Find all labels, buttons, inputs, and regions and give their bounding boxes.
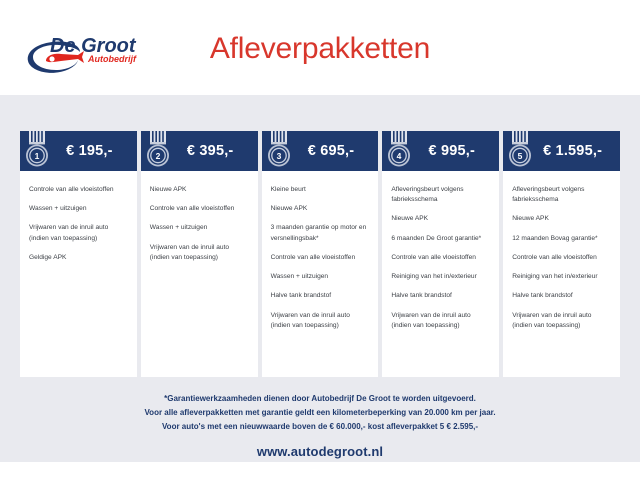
package-feature: 12 maanden Bovag garantie* [512, 234, 611, 244]
package-card-5[interactable]: 5€ 1.595,-Afleveringsbeurt volgens fabri… [503, 131, 620, 377]
package-feature: Controle van alle vloeistoffen [29, 185, 128, 195]
package-card-3[interactable]: 3€ 695,-Kleine beurtNieuwe APK3 maanden … [262, 131, 379, 377]
package-price: € 1.595,- [533, 143, 614, 159]
package-feature: Controle van alle vloeistoffen [150, 204, 249, 214]
package-feature: Wassen + uitzuigen [271, 272, 370, 282]
package-card-4[interactable]: 4€ 995,-Afleveringsbeurt volgens fabriek… [382, 131, 499, 377]
svg-text:4: 4 [397, 151, 402, 161]
package-feature: Nieuwe APK [271, 204, 370, 214]
package-feature: Halve tank brandstof [391, 291, 490, 301]
package-feature: Vrijwaren van de inruil auto (indien van… [512, 311, 611, 331]
medal-icon: 3 [266, 131, 292, 169]
package-price: € 395,- [171, 143, 252, 159]
medal-icon: 5 [507, 131, 533, 169]
page-title: Afleverpakketten [0, 32, 640, 66]
content-band: 1€ 195,-Controle van alle vloeistoffenWa… [0, 95, 640, 462]
package-feature: Wassen + uitzuigen [150, 223, 249, 233]
svg-text:2: 2 [155, 151, 160, 161]
package-feature: Vrijwaren van de inruil auto (indien van… [29, 223, 128, 243]
package-feature: Kleine beurt [271, 185, 370, 195]
package-price: € 995,- [412, 143, 493, 159]
page-header: De Groot Autobedrijf Afleverpakketten [0, 0, 640, 95]
medal-icon: 2 [145, 131, 171, 169]
package-feature: Reiniging van het in/exterieur [391, 272, 490, 282]
package-feature-list: Kleine beurtNieuwe APK3 maanden garantie… [262, 171, 379, 377]
package-card-header: 4€ 995,- [382, 131, 499, 171]
package-feature-list: Afleveringsbeurt volgens fabrieksschemaN… [503, 171, 620, 377]
package-feature: Halve tank brandstof [271, 291, 370, 301]
package-feature: Afleveringsbeurt volgens fabrieksschema [512, 185, 611, 205]
package-feature-list: Afleveringsbeurt volgens fabrieksschemaN… [382, 171, 499, 377]
package-feature: Controle van alle vloeistoffen [512, 253, 611, 263]
package-feature: Nieuwe APK [391, 214, 490, 224]
package-feature: Vrijwaren van de inruil auto (indien van… [271, 311, 370, 331]
package-feature: Controle van alle vloeistoffen [391, 253, 490, 263]
package-feature: Nieuwe APK [150, 185, 249, 195]
svg-text:5: 5 [518, 151, 523, 161]
website-url[interactable]: www.autodegroot.nl [0, 444, 640, 459]
svg-text:3: 3 [276, 151, 281, 161]
package-feature: Vrijwaren van de inruil auto (indien van… [391, 311, 490, 331]
package-feature: Vrijwaren van de inruil auto (indien van… [150, 243, 249, 263]
package-card-header: 5€ 1.595,- [503, 131, 620, 171]
package-feature: 3 maanden garantie op motor en versnelli… [271, 223, 370, 243]
package-card-1[interactable]: 1€ 195,-Controle van alle vloeistoffenWa… [20, 131, 137, 377]
package-feature: Controle van alle vloeistoffen [271, 253, 370, 263]
afleverpakketten-page: De Groot Autobedrijf Afleverpakketten 1€… [0, 0, 640, 480]
package-price: € 695,- [292, 143, 373, 159]
package-feature-list: Nieuwe APKControle van alle vloeistoffen… [141, 171, 258, 377]
package-feature: Wassen + uitzuigen [29, 204, 128, 214]
package-card-header: 3€ 695,- [262, 131, 379, 171]
package-cards: 1€ 195,-Controle van alle vloeistoffenWa… [20, 131, 620, 377]
package-card-header: 1€ 195,- [20, 131, 137, 171]
package-feature: Halve tank brandstof [512, 291, 611, 301]
footer-note-line: Voor alle afleverpakketten met garantie … [0, 406, 640, 420]
medal-icon: 4 [386, 131, 412, 169]
svg-text:1: 1 [35, 151, 40, 161]
package-feature: Reiniging van het in/exterieur [512, 272, 611, 282]
package-feature: 6 maanden De Groot garantie* [391, 234, 490, 244]
package-price: € 195,- [50, 143, 131, 159]
medal-icon: 1 [24, 131, 50, 169]
footer-note-line: Voor auto's met een nieuwwaarde boven de… [0, 420, 640, 434]
package-feature-list: Controle van alle vloeistoffenWassen + u… [20, 171, 137, 377]
package-feature: Nieuwe APK [512, 214, 611, 224]
footer-note-line: *Garantiewerkzaamheden dienen door Autob… [0, 392, 640, 406]
package-card-2[interactable]: 2€ 395,-Nieuwe APKControle van alle vloe… [141, 131, 258, 377]
package-feature: Geldige APK [29, 253, 128, 263]
footer-notes: *Garantiewerkzaamheden dienen door Autob… [0, 392, 640, 433]
package-card-header: 2€ 395,- [141, 131, 258, 171]
package-feature: Afleveringsbeurt volgens fabrieksschema [391, 185, 490, 205]
